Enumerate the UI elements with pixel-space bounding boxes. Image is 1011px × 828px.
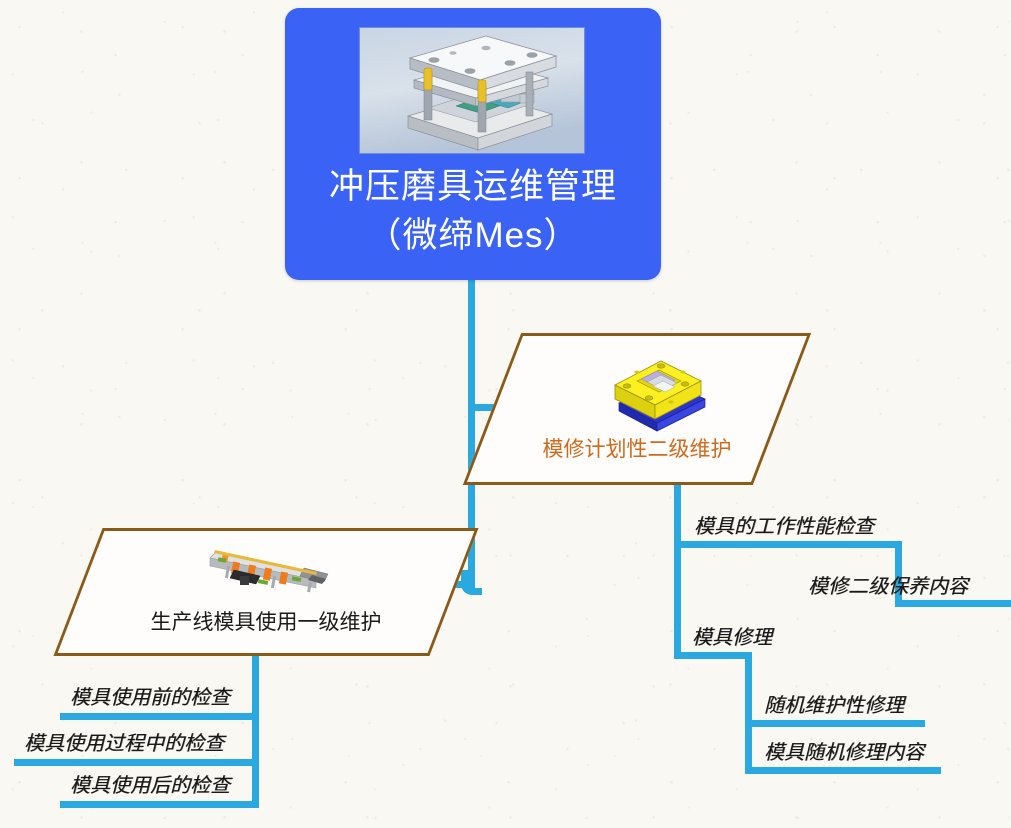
connector-level1-spine	[252, 652, 259, 808]
stamping-die-cad-render	[359, 27, 585, 154]
connector-repair-substem	[745, 652, 752, 774]
node-level2-maintenance[interactable]: 模修计划性二级维护	[492, 333, 782, 485]
leaf-random-preventive-repair[interactable]: 随机维护性修理	[764, 689, 904, 718]
connector-leaf-underline-2	[14, 759, 259, 766]
connector-leaf-underline-3	[60, 801, 259, 808]
yellow-mold-block-render	[597, 341, 721, 433]
leaf-level2-maintenance-content[interactable]: 模修二级保养内容	[808, 570, 968, 599]
root-title: 冲压磨具运维管理 （微缔Mes）	[285, 162, 661, 260]
leaf-working-performance-check[interactable]: 模具的工作性能检查	[694, 510, 874, 539]
connector-level2-spine	[674, 483, 681, 659]
connector-leaf-underline-1	[60, 713, 259, 720]
node-level1-maintenance[interactable]: 生产线模具使用一级维护	[78, 528, 454, 656]
connector-random-repair-underline	[745, 720, 925, 727]
production-line-render	[196, 536, 336, 598]
leaf-post-use-check[interactable]: 模具使用后的检查	[70, 769, 230, 798]
leaf-mold-repair[interactable]: 模具修理	[692, 621, 772, 650]
leaf-during-use-check[interactable]: 模具使用过程中的检查	[24, 727, 224, 756]
connector-random-content-underline	[745, 767, 941, 774]
mindmap-canvas: 冲压磨具运维管理 （微缔Mes）	[0, 0, 1011, 828]
connector-perf-check-underline	[674, 541, 902, 548]
connector-repair-underline	[674, 652, 752, 659]
leaf-random-repair-content[interactable]: 模具随机修理内容	[764, 736, 924, 765]
node-level2-label: 模修计划性二级维护	[492, 433, 782, 463]
root-node[interactable]: 冲压磨具运维管理 （微缔Mes）	[285, 8, 661, 280]
leaf-pre-use-check[interactable]: 模具使用前的检查	[70, 681, 230, 710]
node-level1-label: 生产线模具使用一级维护	[78, 606, 454, 636]
connector-level2-content-underline	[895, 600, 1011, 607]
